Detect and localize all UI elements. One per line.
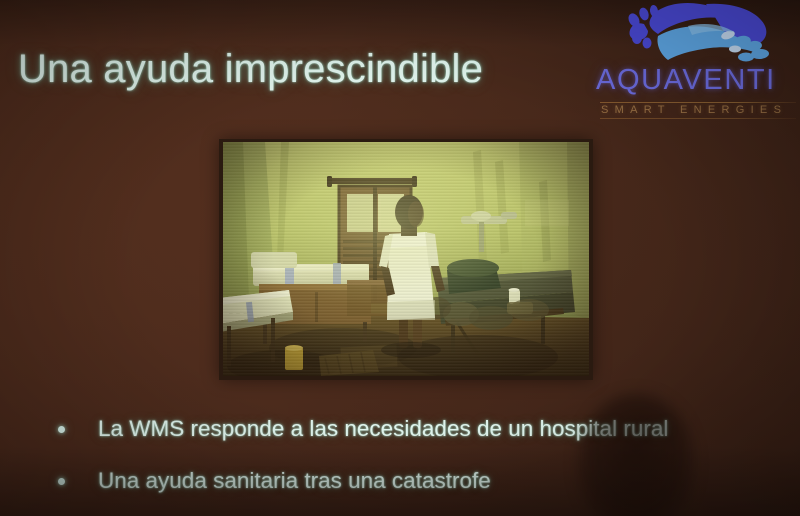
presentation-slide: Una ayuda imprescindible [0,0,800,516]
bullet-dot-icon [58,426,65,433]
logo-wordmark: AQUAVENTI [596,64,800,97]
list-item: La WMS responde a las necesidades de un … [58,414,778,466]
aquaventi-hands-mark-icon [614,2,790,64]
bullet-text: La WMS responde a las necesidades de un … [98,414,668,444]
rural-hospital-photo-frame: _ _ _ [219,139,593,380]
slide-title: Una ayuda imprescindible [18,48,483,90]
logo-tagline: SMART ENERGIES [601,104,797,116]
bullet-dot-icon [58,478,65,485]
aquaventi-logo: AQUAVENTI SMART ENERGIES [596,2,800,117]
svg-text:_ _ _: _ _ _ [229,307,247,314]
logo-divider-bottom [600,118,796,119]
list-item: Una ayuda sanitaria tras una catastrofe [58,466,778,516]
slide-bullet-list: La WMS responde a las necesidades de un … [58,414,778,516]
logo-divider-top [600,102,796,103]
rural-hospital-ward-photo: _ _ _ [223,142,589,376]
bullet-text: Una ayuda sanitaria tras una catastrofe [98,466,491,496]
